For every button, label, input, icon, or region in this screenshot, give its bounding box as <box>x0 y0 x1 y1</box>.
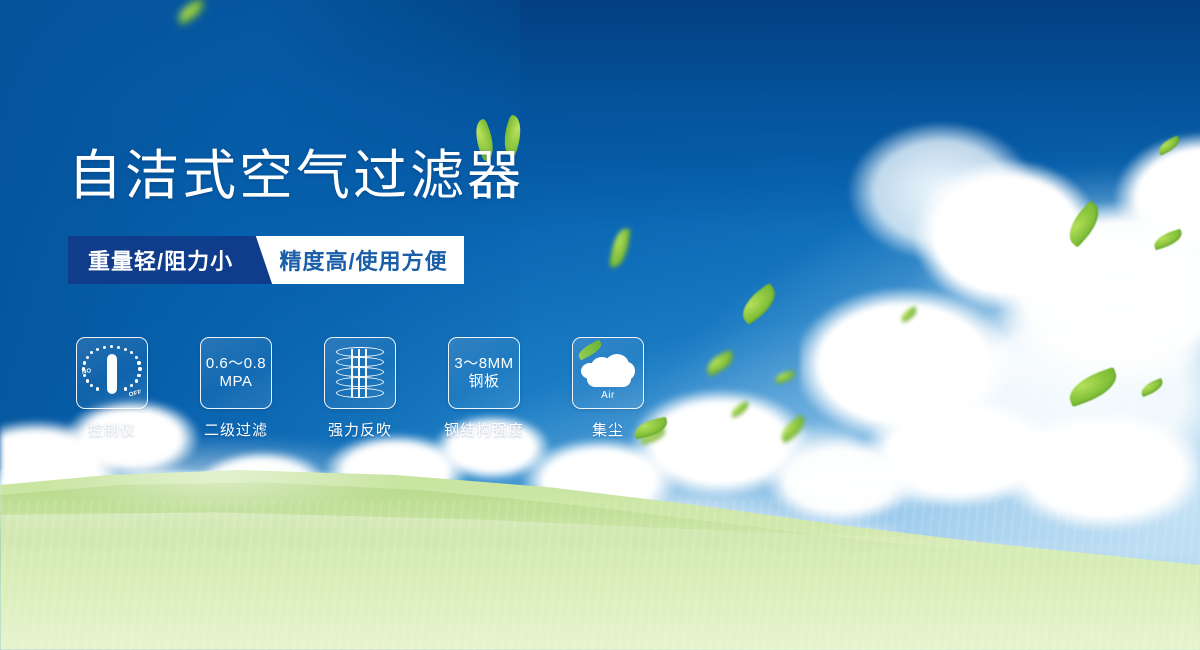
gauge-no-label: NO <box>81 368 92 376</box>
feature-item-dust-collection[interactable]: Air 集尘 <box>572 337 644 440</box>
cloud-wisp-2 <box>800 470 980 500</box>
feature-label: 钢结构强度 <box>444 419 524 440</box>
feature-icon-box: 3～8MM 钢板 <box>448 337 520 409</box>
feature-label: 强力反吹 <box>328 419 392 440</box>
subtitle-left-segment: 重量轻/阻力小 <box>68 236 255 284</box>
cloud-air-icon: Air <box>579 347 637 399</box>
feature-icon-box: 0.6～0.8 MPA <box>200 337 272 409</box>
pressure-unit: MPA <box>206 373 266 391</box>
gauge-off-label: OFF <box>129 390 143 399</box>
feature-item-steel[interactable]: 3～8MM 钢板 钢结构强度 <box>448 337 520 440</box>
feature-item-filter[interactable]: 0.6～0.8 MPA 二级过滤 <box>200 337 272 440</box>
feature-label: 集尘 <box>592 419 624 440</box>
cloud-wisp-1 <box>740 430 860 456</box>
feature-icon-box: NO OFF <box>76 337 148 409</box>
feature-label: 二级过滤 <box>204 419 268 440</box>
feature-icon-box: Air <box>572 337 644 409</box>
feature-label: 控制仪 <box>88 419 136 440</box>
feature-item-blowback[interactable]: 强力反吹 <box>324 337 396 440</box>
steel-plate-label: 钢板 <box>454 373 513 391</box>
feature-item-controller[interactable]: NO OFF 控制仪 <box>76 337 148 440</box>
subtitle-bar: 重量轻/阻力小 精度高/使用方便 <box>68 236 464 284</box>
hero-banner: 自洁式空气过滤器 重量轻/阻力小 精度高/使用方便 <box>0 0 1200 650</box>
pressure-value: 0.6～0.8 <box>206 355 266 373</box>
air-label: Air <box>579 390 637 401</box>
page-title: 自洁式空气过滤器 <box>68 146 524 206</box>
coil-filter-icon <box>336 347 384 399</box>
steel-thickness: 3～8MM <box>454 355 513 373</box>
feature-list: NO OFF 控制仪 0.6～0.8 MPA 二级过滤 <box>76 337 644 440</box>
subtitle-right-segment: 精度高/使用方便 <box>255 236 464 284</box>
pressure-text-icon: 0.6～0.8 MPA <box>206 355 266 391</box>
feature-icon-box <box>324 337 396 409</box>
gauge-toggle-bar <box>107 354 117 394</box>
gauge-switch-icon: NO OFF <box>83 345 141 401</box>
grass-texture <box>0 500 1200 650</box>
steel-text-icon: 3～8MM 钢板 <box>454 355 513 391</box>
